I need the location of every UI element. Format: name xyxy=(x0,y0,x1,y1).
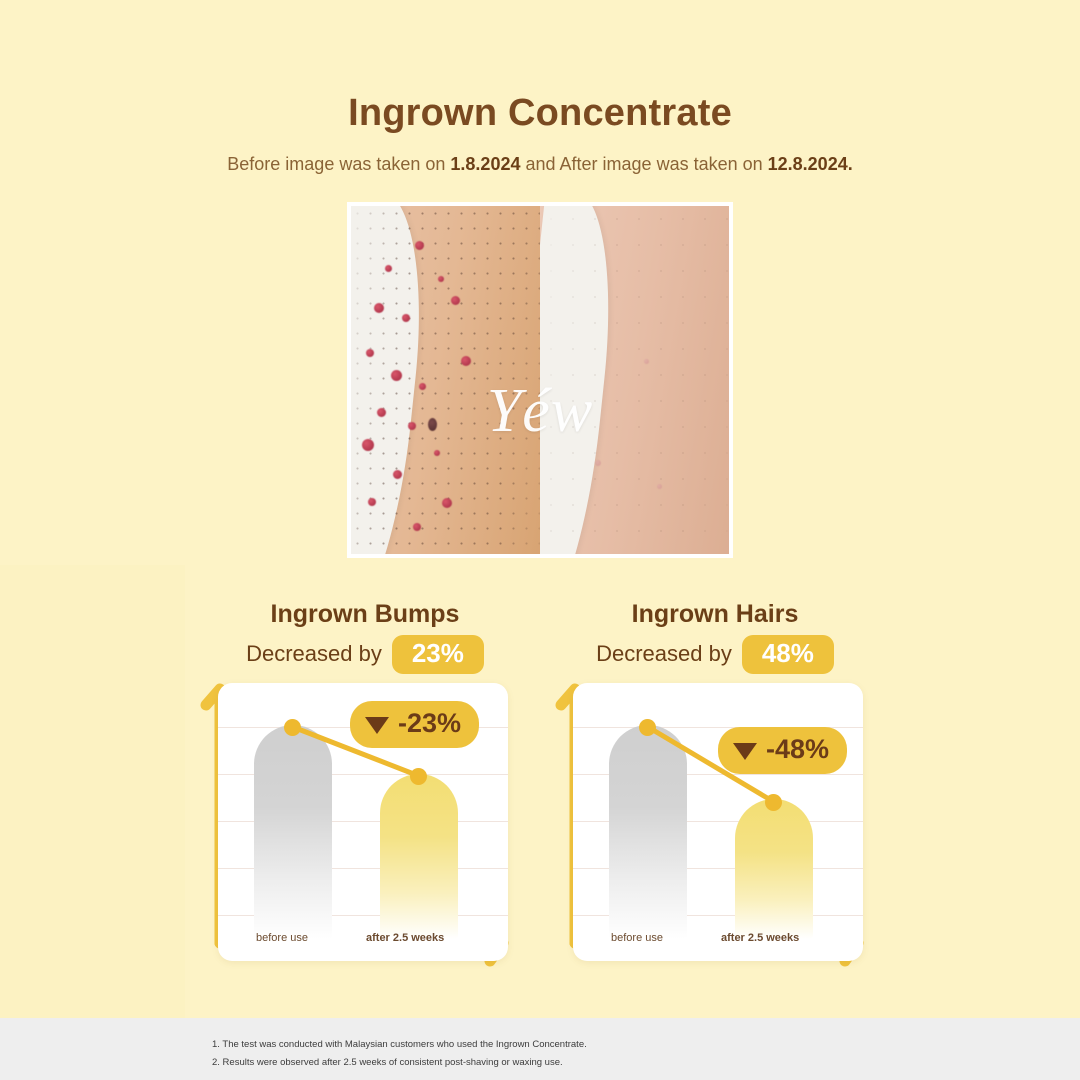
trend-marker-before-bumps xyxy=(284,719,301,736)
infographic-page: Ingrown Concentrate Before image was tak… xyxy=(0,0,1080,1080)
triangle-down-icon xyxy=(365,717,389,734)
footnote-1: 1. The test was conducted with Malaysian… xyxy=(212,1039,587,1050)
chart-ingrown-bumps: before use after 2.5 weeks -23% xyxy=(198,675,528,975)
trend-line-hairs xyxy=(573,683,863,961)
before-date: 1.8.2024 xyxy=(450,154,520,174)
chart-card-hairs: before use after 2.5 weeks xyxy=(573,683,863,961)
metric-heading-bumps: Ingrown Bumps Decreased by 23% xyxy=(200,600,530,674)
photo-inner: Yéw xyxy=(351,206,729,554)
delta-badge-label-bumps: -23% xyxy=(398,708,461,739)
before-after-photo: Yéw xyxy=(347,202,733,558)
delta-badge-bumps: -23% xyxy=(350,701,479,748)
page-title: Ingrown Concentrate xyxy=(0,92,1080,135)
brand-watermark: Yéw xyxy=(351,376,729,447)
date-subtitle: Before image was taken on 1.8.2024 and A… xyxy=(0,154,1080,175)
percent-badge-hairs: 48% xyxy=(742,635,834,674)
bar-label-before-hairs: before use xyxy=(611,932,663,944)
background-band-seam xyxy=(0,565,185,1018)
bar-label-after-hairs: after 2.5 weeks xyxy=(721,932,799,944)
subtitle-text-1: Before image was taken on xyxy=(227,154,450,174)
bar-label-before-bumps: before use xyxy=(256,932,308,944)
metric-decrease-row-hairs: Decreased by 48% xyxy=(550,635,880,674)
metric-name-hairs: Ingrown Hairs xyxy=(550,600,880,629)
decreased-label-hairs: Decreased by xyxy=(596,641,732,667)
footnote-2: 2. Results were observed after 2.5 weeks… xyxy=(212,1057,563,1068)
after-date: 12.8.2024. xyxy=(768,154,853,174)
delta-badge-hairs: -48% xyxy=(718,727,847,774)
trend-marker-before-hairs xyxy=(639,719,656,736)
subtitle-text-2: and After image was taken on xyxy=(520,154,767,174)
decreased-label-bumps: Decreased by xyxy=(246,641,382,667)
percent-badge-bumps: 23% xyxy=(392,635,484,674)
metric-decrease-row-bumps: Decreased by 23% xyxy=(200,635,530,674)
metric-name-bumps: Ingrown Bumps xyxy=(200,600,530,629)
trend-marker-after-bumps xyxy=(410,768,427,785)
metric-heading-hairs: Ingrown Hairs Decreased by 48% xyxy=(550,600,880,674)
footer-disclaimer: 1. The test was conducted with Malaysian… xyxy=(0,1018,1080,1080)
trend-marker-after-hairs xyxy=(765,794,782,811)
delta-badge-label-hairs: -48% xyxy=(766,734,829,765)
bar-label-after-bumps: after 2.5 weeks xyxy=(366,932,444,944)
chart-ingrown-hairs: before use after 2.5 weeks -48% xyxy=(553,675,883,975)
triangle-down-icon-hairs xyxy=(733,743,757,760)
